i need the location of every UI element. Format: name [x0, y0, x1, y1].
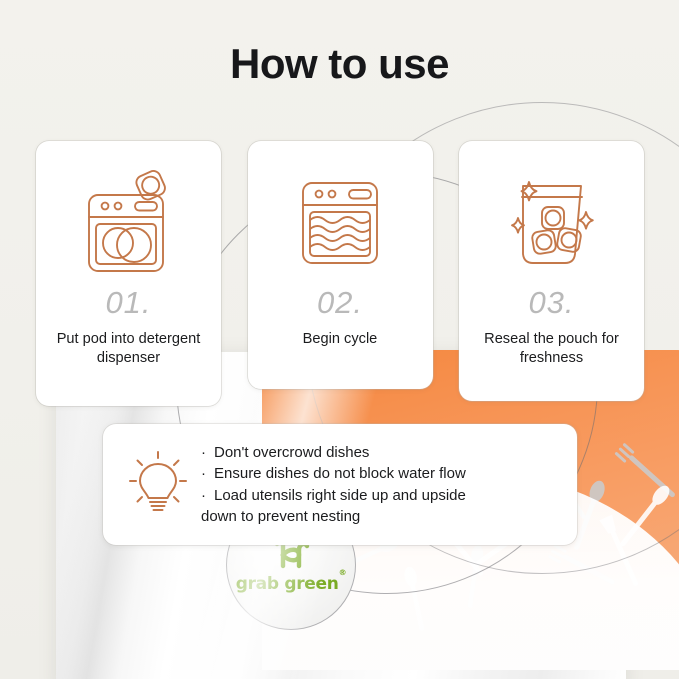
step-card-3: 03. Reseal the pouch for freshness: [459, 141, 644, 401]
tip-text-continuation: down to prevent nesting: [201, 506, 557, 527]
tip-text: Ensure dishes do not block water flow: [214, 463, 466, 484]
step-card-2: 02. Begin cycle: [248, 141, 433, 389]
tip-item: · Don't overcrowd dishes: [201, 442, 557, 463]
bullet-icon: ·: [201, 485, 214, 506]
brand-name-text: grab green: [236, 574, 339, 594]
step-card-1: 01. Put pod into detergent dispenser: [36, 141, 221, 406]
tips-card: · Don't overcrowd dishes · Ensure dishes…: [103, 424, 577, 545]
resealable-pouch-icon: [502, 163, 602, 283]
step-number: 01.: [105, 285, 151, 321]
dishwasher-washing-icon: [294, 163, 386, 283]
tips-list: · Don't overcrowd dishes · Ensure dishes…: [197, 442, 557, 527]
steps-row: 01. Put pod into detergent dispenser: [36, 141, 644, 406]
dishwasher-with-pod-icon: [77, 163, 181, 283]
registered-trademark-icon: ®: [339, 568, 347, 577]
bullet-icon: ·: [201, 463, 214, 484]
step-description: Reseal the pouch for freshness: [468, 330, 635, 369]
step-description: Put pod into detergent dispenser: [45, 330, 212, 369]
brand-name: grab green®: [236, 574, 347, 594]
tip-item: · Ensure dishes do not block water flow: [201, 463, 557, 484]
bullet-icon: ·: [201, 442, 214, 463]
tip-text: Don't overcrowd dishes: [214, 442, 369, 463]
page-title: How to use: [0, 40, 679, 88]
how-to-use-infographic: grab green® How to use: [0, 0, 679, 679]
lightbulb-icon: [119, 451, 197, 519]
tip-item: · Load utensils right side up and upside: [201, 485, 557, 506]
tip-text: Load utensils right side up and upside: [214, 485, 466, 506]
step-number: 02.: [317, 285, 363, 321]
step-description: Begin cycle: [303, 330, 378, 349]
step-number: 03.: [528, 285, 574, 321]
